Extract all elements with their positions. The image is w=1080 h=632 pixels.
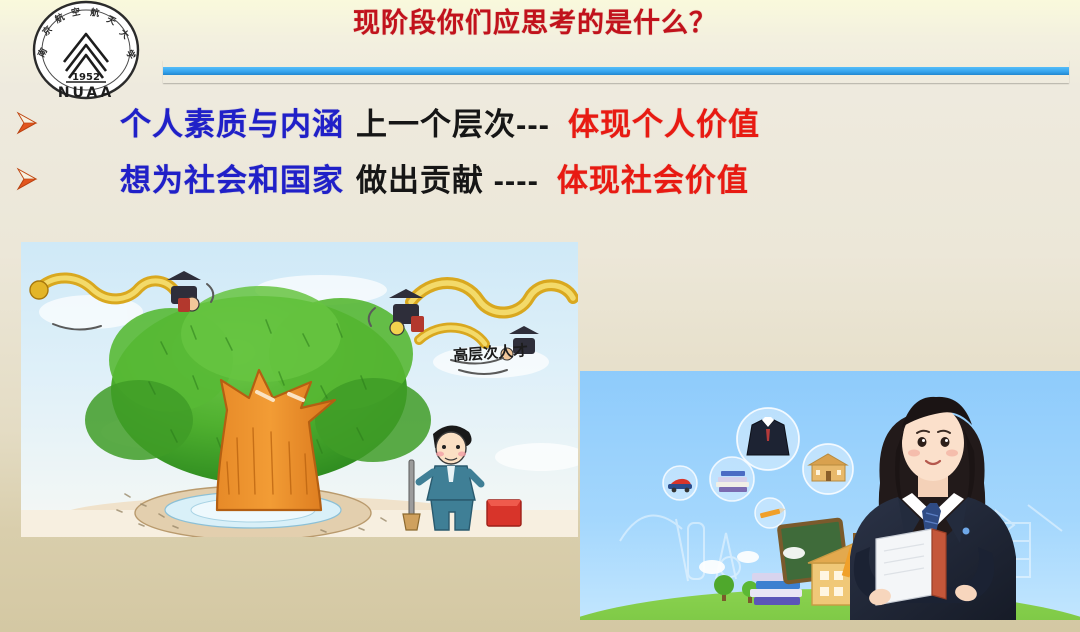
bullet-1-segment-blue: 个人素质与内涵	[120, 102, 344, 148]
slide-title: 现阶段你们应思考的是什么？	[300, 6, 770, 40]
bullet-2-segment-blue: 想为社会和国家	[120, 158, 344, 204]
student-photo-image	[580, 371, 1080, 620]
logo-year: 1952	[72, 72, 100, 83]
arrow-bullet-icon	[14, 164, 40, 194]
bullet-1-segment-black: 上一个层次---	[356, 102, 550, 148]
bullet-row-1: 个人素质与内涵 上一个层次--- 体现个人价值	[0, 102, 1080, 148]
bullet-row-2: 想为社会和国家 做出贡献 ---- 体现社会价值	[0, 158, 1080, 204]
arrow-bullet-icon	[14, 108, 40, 138]
bullet-1-text: 个人素质与内涵 上一个层次--- 体现个人价值	[120, 102, 760, 148]
blue-divider-bar	[163, 60, 1069, 83]
bullet-2-segment-red: 体现社会价值	[557, 158, 749, 204]
bullet-2-segment-black: 做出贡献 ----	[356, 158, 539, 204]
bullet-1-segment-red: 体现个人价值	[568, 102, 760, 148]
bullet-2-text: 想为社会和国家 做出贡献 ---- 体现社会价值	[120, 158, 749, 204]
nuaa-logo: 南 京 航 空 航 天 大 学 1952 NUAA	[26, 0, 146, 102]
slide-canvas: 南 京 航 空 航 天 大 学 1952 NUAA 现阶段你们应思考的是什么？	[0, 0, 1080, 632]
tree-cartoon-image: 高层次人才	[21, 242, 578, 537]
logo-abbreviation: NUAA	[58, 85, 114, 101]
divider-sheen	[163, 67, 1069, 75]
